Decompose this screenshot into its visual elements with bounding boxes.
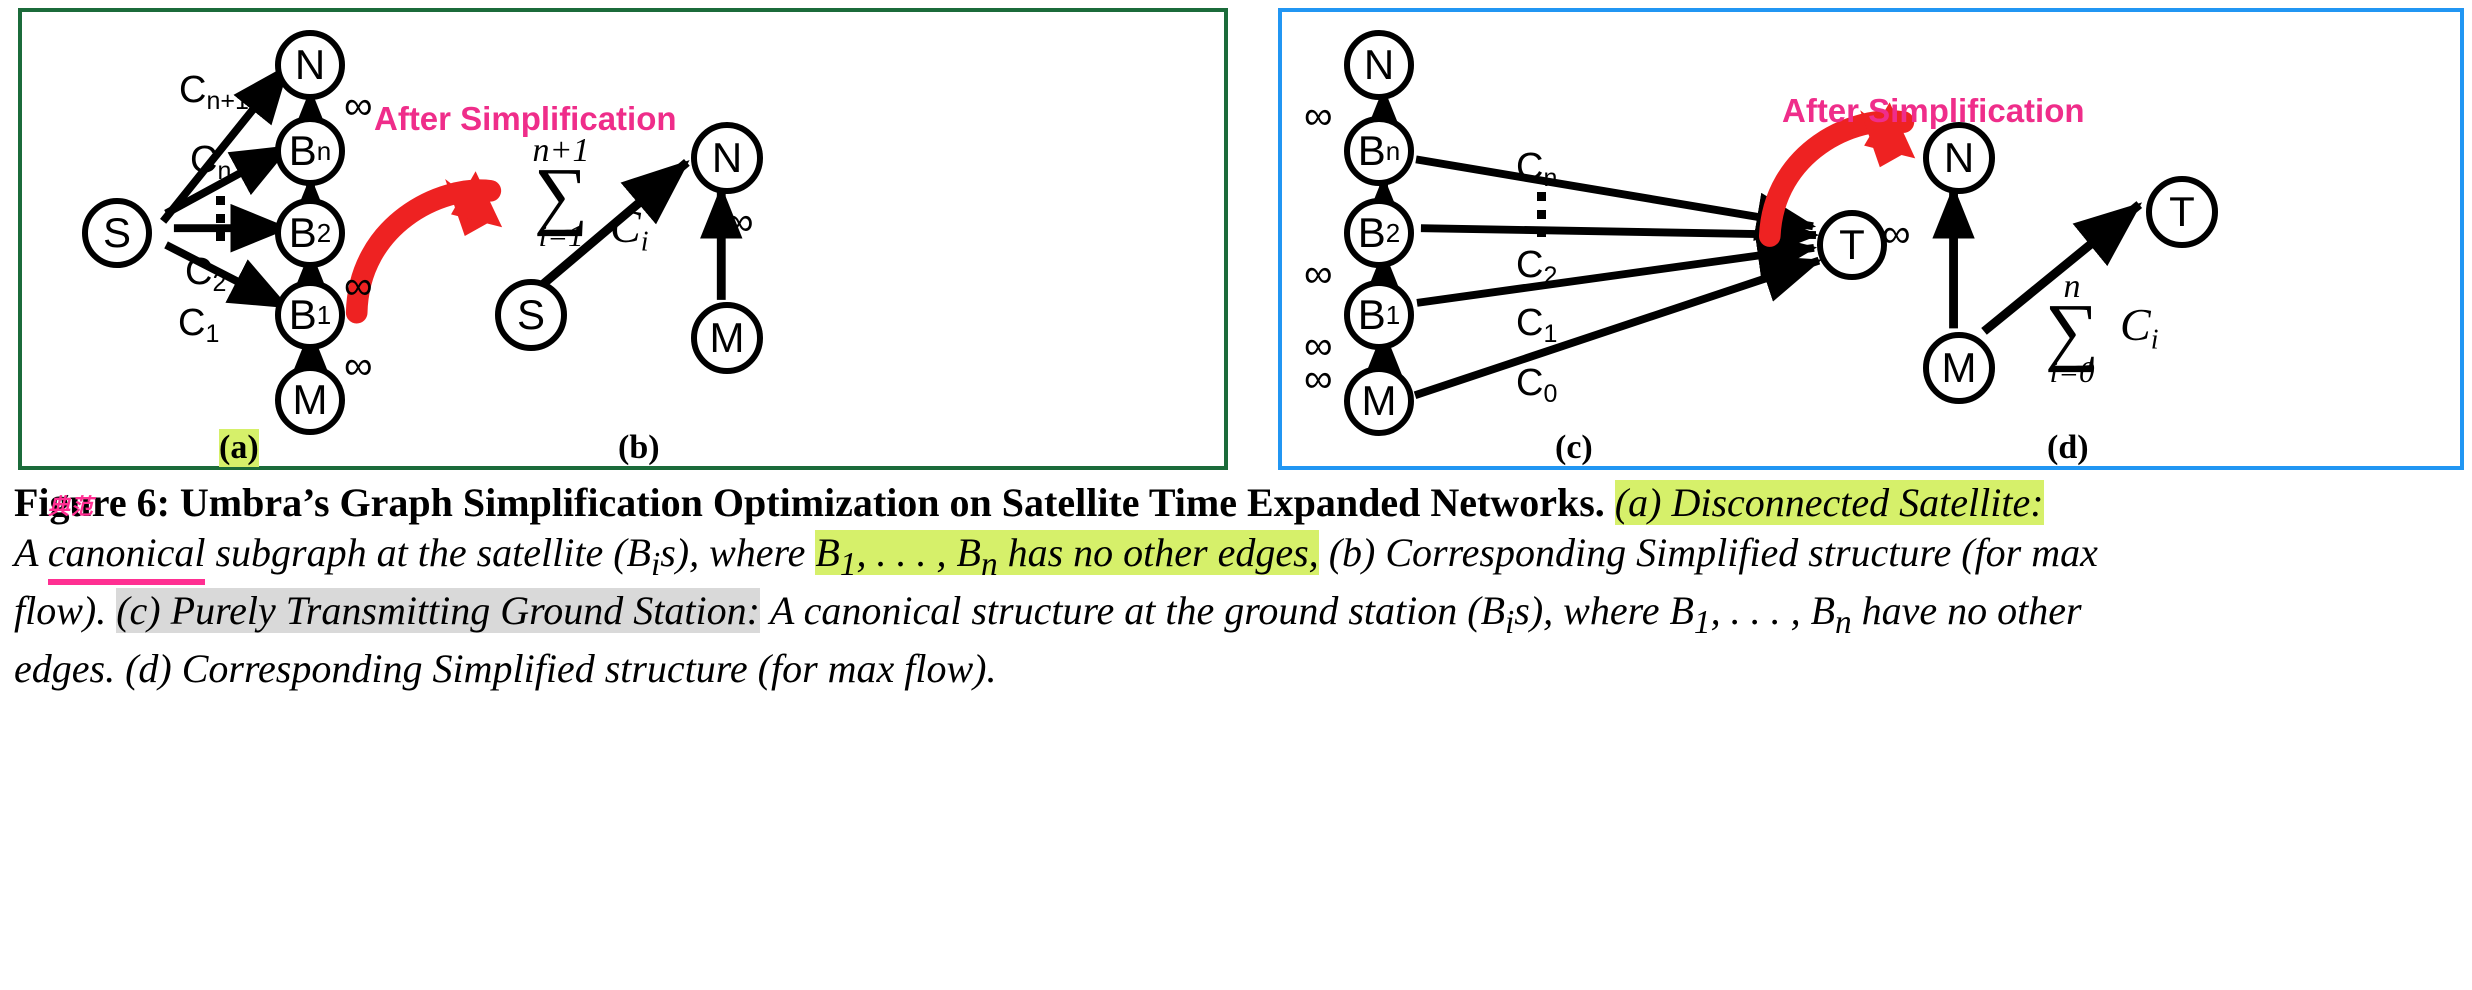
sum-lower-limit: i=1 — [511, 220, 611, 251]
caption-part-c-subn: n — [1835, 604, 1852, 641]
caption-line2-after: s), where — [660, 530, 815, 575]
node-c-T[interactable]: T — [1817, 210, 1887, 280]
node-label: S — [103, 212, 131, 254]
capacity-infinity-d-1: ∞ — [1882, 212, 1911, 257]
edge-label-a-Cn: Cn — [190, 139, 231, 186]
vertical-ellipsis-a — [216, 196, 225, 241]
sum-term-sub: i — [641, 226, 649, 257]
caption-part-c-tail: have no other — [1852, 588, 2082, 633]
summation-d: n ∑ i=0 — [2022, 270, 2122, 387]
capacity-infinity-a-1: ∞ — [344, 84, 373, 129]
node-b-M[interactable]: M — [691, 302, 763, 374]
panel-tag-c: (c) — [1555, 429, 1593, 467]
hb1: B — [815, 530, 839, 575]
node-c-B2[interactable]: B2 — [1344, 198, 1414, 268]
node-label: B — [1358, 130, 1386, 172]
node-d-T[interactable]: T — [2146, 176, 2218, 248]
capacity-infinity-c-4: ∞ — [1304, 357, 1333, 402]
edge-label-c-C2: C2 — [1516, 244, 1557, 291]
caption-part-c-body: A canonical structure at the ground stat… — [770, 588, 1505, 633]
caption-part-c-mid: , . . . , B — [1711, 588, 1835, 633]
caption-highlight-b-range: B1, . . . , Bn has no other edges, — [815, 530, 1318, 575]
caption-part-b-text: (b) Corresponding Simplified structure (… — [1319, 530, 2098, 575]
edge-label-text: C — [185, 251, 212, 293]
caption-canonical-word: 典范canonical — [48, 528, 206, 584]
node-label: N — [295, 44, 325, 86]
node-d-M[interactable]: M — [1923, 332, 1995, 404]
figure-root: S N Bn B2 B1 M Cn+1 Cn C2 C1 — [0, 0, 2472, 990]
caption-part-c-heading: (c) Purely Transmitting Ground Station: — [116, 588, 760, 633]
caption-part-c-sub1: 1 — [1694, 604, 1711, 641]
caption-line-1: Figure 6: Umbra’s Graph Simplification O… — [14, 478, 2466, 528]
caption-line-3: flow). (c) Purely Transmitting Ground St… — [14, 586, 2466, 644]
edge-label-sub: 2 — [212, 269, 226, 297]
after-simplification-label-ab: After Simplification — [374, 100, 677, 138]
node-subscript: 2 — [317, 220, 331, 246]
node-label: B — [289, 130, 317, 172]
capacity-infinity-a-3: ∞ — [344, 344, 373, 389]
edge-label-a-C1: C1 — [178, 302, 219, 349]
node-label: B — [1358, 212, 1386, 254]
node-label: T — [2169, 191, 2195, 233]
node-a-M[interactable]: M — [275, 365, 345, 435]
node-subscript: n — [317, 138, 331, 164]
summation-term-b: Ci — [610, 200, 648, 258]
panel-tag-a: (a) — [219, 429, 259, 467]
figure-caption: Figure 6: Umbra’s Graph Simplification O… — [14, 478, 2466, 695]
edge-label-sub: n — [217, 157, 231, 185]
edge-label-sub: 2 — [1543, 262, 1557, 290]
caption-part-c-sub: i — [1505, 604, 1514, 641]
node-c-N[interactable]: N — [1344, 30, 1414, 100]
node-label: M — [1362, 380, 1397, 422]
node-b-N[interactable]: N — [691, 122, 763, 194]
hb5: has no other edges, — [998, 530, 1319, 575]
node-label: M — [710, 317, 745, 359]
node-subscript: 1 — [1386, 302, 1400, 328]
caption-part-d-text: (d) Corresponding Simplified structure (… — [125, 646, 996, 691]
caption-canonical-text: canonical — [48, 530, 206, 575]
node-subscript: 2 — [1386, 220, 1400, 246]
caption-line-2: A 典范canonical subgraph at the satellite … — [14, 528, 2466, 586]
edge-label-c-C0: C0 — [1516, 362, 1557, 409]
capacity-infinity-c-1: ∞ — [1304, 94, 1333, 139]
sum-lower-limit: i=0 — [2022, 356, 2122, 387]
caption-line-4: edges. (d) Corresponding Simplified stru… — [14, 644, 2466, 694]
caption-part-a-heading: (a) Disconnected Satellite: — [1615, 480, 2044, 525]
node-subscript: n — [1386, 138, 1400, 164]
hb2: 1 — [840, 546, 857, 583]
edge-label-c-C1: C1 — [1516, 302, 1557, 349]
edge-label-text: C — [1516, 302, 1543, 344]
edge-label-sub: n+1 — [206, 87, 248, 115]
sum-sigma-icon: ∑ — [2022, 300, 2122, 362]
caption-part-c-text-a — [760, 588, 770, 633]
node-label: B — [1358, 294, 1386, 336]
node-a-N[interactable]: N — [275, 30, 345, 100]
edge-label-text: C — [179, 69, 206, 111]
node-subscript: 1 — [317, 302, 331, 328]
edge-label-text: C — [1516, 244, 1543, 286]
node-label: N — [1944, 137, 1974, 179]
caption-part-c-tail2: edges. — [14, 646, 115, 691]
caption-part-c-text-b: s), where B — [1514, 588, 1694, 633]
node-c-Bn[interactable]: Bn — [1344, 116, 1414, 186]
sum-term-sub: i — [2151, 324, 2159, 355]
node-label: T — [1839, 224, 1865, 266]
node-label: S — [517, 294, 545, 336]
edge-label-text: C — [190, 139, 217, 181]
edge-label-sub: 1 — [1543, 320, 1557, 348]
node-label: M — [293, 379, 328, 421]
caption-line3-prefix: flow). — [14, 588, 116, 633]
edge-label-text: C — [1516, 362, 1543, 404]
capacity-infinity-b-1: ∞ — [725, 200, 754, 245]
edge-label-a-C2: C2 — [185, 251, 226, 298]
hb3: , . . . , B — [857, 530, 981, 575]
node-b-S[interactable]: S — [495, 279, 567, 351]
node-d-N[interactable]: N — [1923, 122, 1995, 194]
edge-label-sub: n — [1543, 164, 1557, 192]
node-label: B — [289, 212, 317, 254]
node-a-B1[interactable]: B1 — [275, 280, 345, 350]
node-label: B — [289, 294, 317, 336]
edge-label-text: C — [178, 302, 205, 344]
panel-group-ground-station: N Bn B2 B1 M T Cn C2 C1 C0 — [1278, 8, 2464, 470]
edge-label-sub: 1 — [205, 320, 219, 348]
caption-line2-mid: subgraph at the satellite (B — [205, 530, 651, 575]
node-label: N — [1364, 44, 1394, 86]
edge-label-c-Cn: Cn — [1516, 146, 1557, 193]
edge-label-text: C — [1516, 146, 1543, 188]
edge-label-sub: 0 — [1543, 380, 1557, 408]
caption-line2-sub: i — [651, 546, 660, 583]
caption-title: Umbra’s Graph Simplification Optimizatio… — [180, 480, 1605, 525]
panel-group-satellite: S N Bn B2 B1 M Cn+1 Cn C2 C1 — [18, 8, 1228, 470]
caption-cjk-note: 典范 — [48, 494, 94, 522]
after-simplification-label-cd: After Simplification — [1782, 92, 2085, 130]
edge-label-a-Cn1: Cn+1 — [179, 69, 249, 116]
capacity-infinity-c-2: ∞ — [1304, 252, 1333, 297]
vertical-ellipsis-c — [1537, 192, 1546, 237]
node-a-Bn[interactable]: Bn — [275, 116, 345, 186]
hb4: n — [981, 546, 998, 583]
summation-b: n+1 ∑ i=1 — [511, 134, 611, 251]
summation-term-d: Ci — [2120, 298, 2158, 356]
node-a-B2[interactable]: B2 — [275, 198, 345, 268]
node-label: M — [1942, 347, 1977, 389]
node-c-B1[interactable]: B1 — [1344, 280, 1414, 350]
capacity-infinity-a-2: ∞ — [344, 264, 373, 309]
sum-sigma-icon: ∑ — [511, 164, 611, 226]
sum-term-text: C — [610, 201, 641, 252]
sum-term-text: C — [2120, 299, 2151, 350]
node-label: N — [712, 137, 742, 179]
node-a-S[interactable]: S — [82, 198, 152, 268]
caption-line2-prefix: A — [14, 530, 48, 575]
panel-tag-d: (d) — [2047, 429, 2089, 467]
node-c-M[interactable]: M — [1344, 366, 1414, 436]
panel-tag-b: (b) — [618, 429, 660, 467]
